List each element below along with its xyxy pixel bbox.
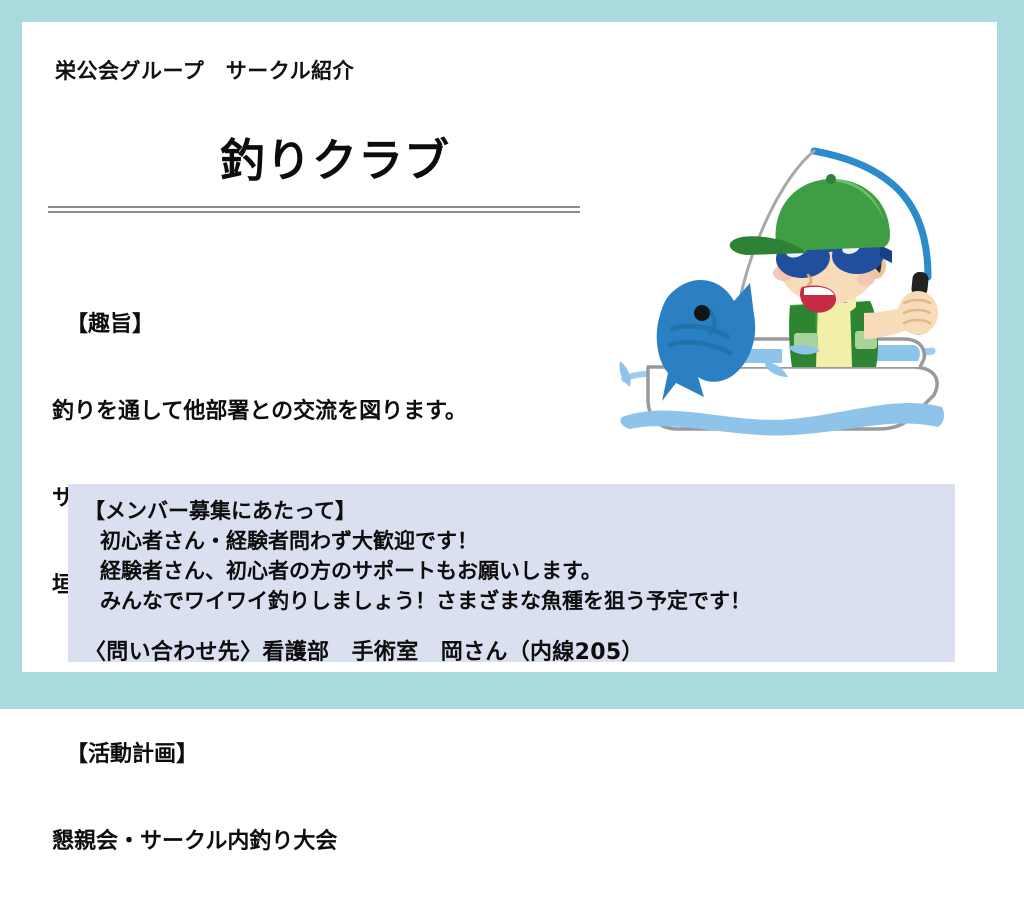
poster-sheet: 栄公会グループ サークル紹介 釣りクラブ 【趣旨】 釣りを通して他部署との交流を…: [22, 22, 997, 672]
page-title: 釣りクラブ: [220, 138, 450, 183]
recruit-line-1: 初心者さん・経験者問わず大歓迎です！: [84, 526, 955, 556]
title-divider: [48, 206, 580, 213]
plan-line-1: 懇親会・サークル内釣り大会: [52, 827, 612, 856]
fisherman-illustration: [612, 117, 972, 467]
fish-eye: [694, 305, 710, 321]
recruit-line-3: みんなでワイワイ釣りしましょう！さまざまな魚種を狙う予定です！: [84, 586, 955, 616]
recruit-spacer: [84, 616, 955, 638]
recruitment-panel: 【メンバー募集にあたって】 初心者さん・経験者問わず大歓迎です！ 経験者さん、初…: [68, 484, 955, 662]
poster-canvas: 栄公会グループ サークル紹介 釣りクラブ 【趣旨】 釣りを通して他部署との交流を…: [0, 0, 1024, 709]
fisherman-cap-crown: [776, 179, 890, 251]
splash-left: [619, 361, 630, 387]
plan-heading: 【活動計画】: [52, 740, 612, 769]
cap-button: [826, 174, 836, 184]
divider-line-top: [48, 206, 580, 208]
contact-info: 〈問い合わせ先〉看護部 手術室 岡さん（内線205）: [84, 638, 955, 668]
recruit-heading: 【メンバー募集にあたって】: [84, 496, 955, 526]
purpose-line-1: 釣りを通して他部署との交流を図ります。: [52, 397, 612, 426]
divider-line-bottom: [48, 211, 580, 213]
recruit-line-2: 経験者さん、初心者の方のサポートもお願いします。: [84, 556, 955, 586]
group-header: 栄公会グループ サークル紹介: [55, 55, 354, 85]
purpose-heading: 【趣旨】: [52, 310, 612, 339]
cheek-right: [857, 272, 875, 286]
